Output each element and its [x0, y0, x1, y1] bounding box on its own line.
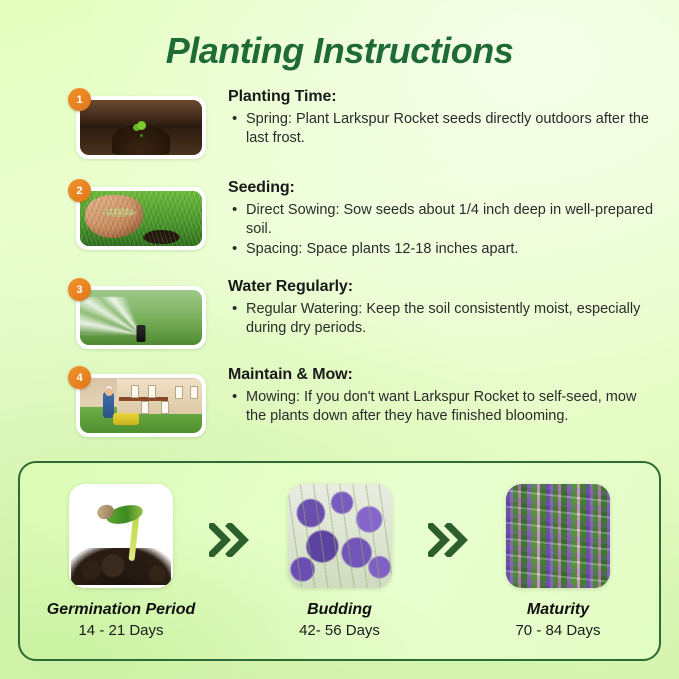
step-item: 1 Planting Time: Spring: Plant Larkspur … — [0, 88, 679, 159]
lawn-sprinkler-watering-photo — [80, 290, 202, 345]
photo-art — [80, 100, 202, 155]
step-number-badge: 2 — [68, 179, 91, 202]
step-item: 4 — [0, 366, 679, 437]
photo-art — [288, 484, 392, 588]
bullet-item: Regular Watering: Keep the soil consiste… — [228, 300, 658, 338]
step-text-block: Maintain & Mow: Mowing: If you don't wan… — [228, 366, 658, 427]
timeline-stage-days: 42- 56 Days — [299, 622, 380, 639]
step-text-block: Planting Time: Spring: Plant Larkspur Ro… — [228, 88, 658, 149]
step-bullets: Regular Watering: Keep the soil consiste… — [228, 300, 658, 338]
step-thumbnail-wrap: 1 — [68, 88, 218, 159]
photo-art — [80, 378, 202, 433]
bullet-item: Direct Sowing: Sow seeds about 1/4 inch … — [228, 201, 658, 239]
step-thumbnail-wrap: 2 — [68, 179, 218, 250]
step-item: 3 Water Regularly: Regular Watering: Kee… — [0, 278, 679, 349]
step-heading: Water Regularly: — [228, 278, 658, 296]
step-number-badge: 1 — [68, 88, 91, 111]
man-mowing-lawn-photo — [80, 378, 202, 433]
timeline-stage: Maturity 70 - 84 Days — [473, 484, 643, 639]
step-thumbnail-wrap: 4 — [68, 366, 218, 437]
step-heading: Seeding: — [228, 179, 658, 197]
purple-larkspur-buds-photo — [288, 484, 392, 588]
bullet-item: Spacing: Space plants 12-18 inches apart… — [228, 240, 658, 259]
timeline-stage-days: 14 - 21 Days — [78, 622, 163, 639]
germinating-seed-photo — [69, 484, 173, 588]
timeline-stage: Budding 42- 56 Days — [255, 484, 425, 639]
step-thumbnail-wrap: 3 — [68, 278, 218, 349]
larkspur-field-in-bloom-photo — [506, 484, 610, 588]
chevron-right-icon — [426, 523, 472, 557]
bullet-item: Spring: Plant Larkspur Rocket seeds dire… — [228, 110, 658, 148]
step-bullets: Spring: Plant Larkspur Rocket seeds dire… — [228, 110, 658, 148]
chevron-right-icon — [207, 523, 253, 557]
step-text-block: Seeding: Direct Sowing: Sow seeds about … — [228, 179, 658, 260]
photo-art — [80, 191, 202, 246]
step-heading: Maintain & Mow: — [228, 366, 658, 384]
timeline-stage-days: 70 - 84 Days — [515, 622, 600, 639]
timeline-stage: Germination Period 14 - 21 Days — [36, 484, 206, 639]
step-thumbnail-frame — [76, 187, 206, 250]
step-heading: Planting Time: — [228, 88, 658, 106]
photo-art — [506, 484, 610, 588]
photo-art — [80, 290, 202, 345]
step-number-badge: 3 — [68, 278, 91, 301]
timeline-stage-name: Maturity — [527, 601, 589, 619]
step-thumbnail-frame — [76, 374, 206, 437]
step-bullets: Mowing: If you don't want Larkspur Rocke… — [228, 388, 658, 426]
photo-art — [69, 484, 173, 588]
step-bullets: Direct Sowing: Sow seeds about 1/4 inch … — [228, 201, 658, 259]
timeline-stage-name: Budding — [307, 601, 372, 619]
timeline-stage-name: Germination Period — [47, 601, 195, 619]
step-item: 2 Seeding: Direct Sowing: Sow seeds abou… — [0, 179, 679, 260]
planting-instructions-infographic: Planting Instructions 1 Planting Time: — [0, 0, 679, 679]
step-number-badge: 4 — [68, 366, 91, 389]
step-thumbnail-frame — [76, 286, 206, 349]
page-title: Planting Instructions — [0, 30, 679, 72]
hand-sowing-seeds-on-grass-photo — [80, 191, 202, 246]
bullet-item: Mowing: If you don't want Larkspur Rocke… — [228, 388, 658, 426]
step-text-block: Water Regularly: Regular Watering: Keep … — [228, 278, 658, 339]
hands-holding-soil-sprout-photo — [80, 100, 202, 155]
step-thumbnail-frame — [76, 96, 206, 159]
growth-timeline-panel: Germination Period 14 - 21 Days Budding … — [18, 461, 661, 661]
